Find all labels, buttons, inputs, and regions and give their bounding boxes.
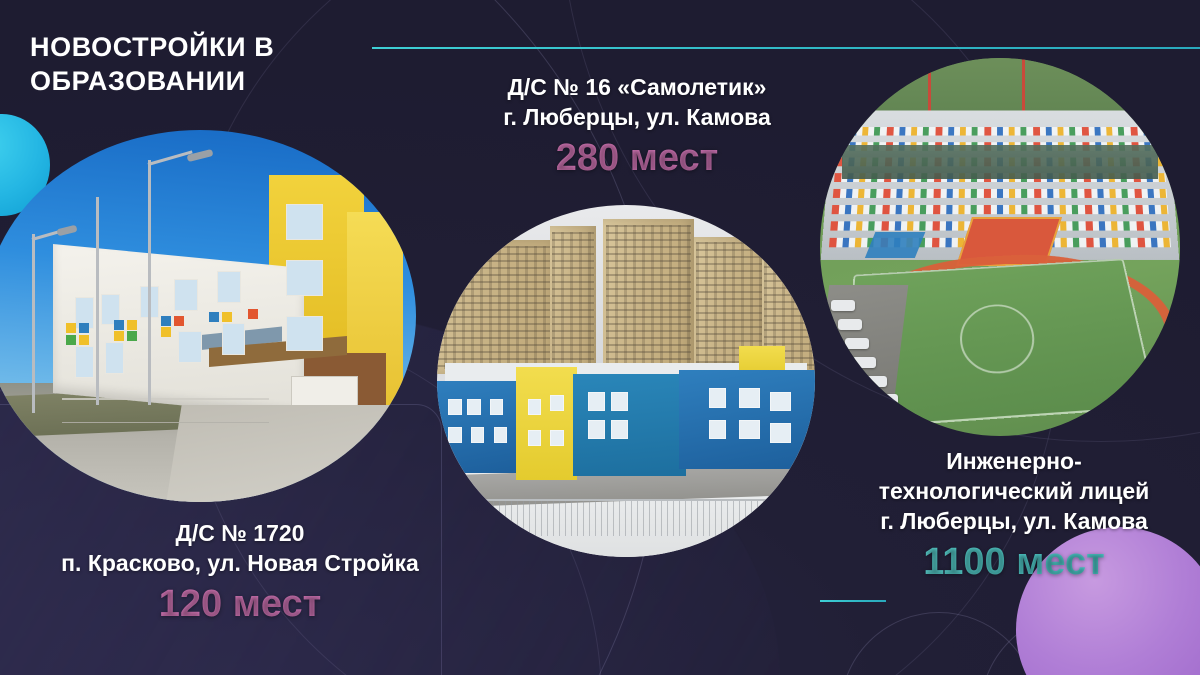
window [611, 420, 628, 440]
parked-car [852, 357, 876, 368]
facility-name: Д/С № 1720 [0, 518, 490, 548]
window [709, 420, 726, 440]
page-title: НОВОСТРОЙКИ В ОБРАЗОВАНИИ [30, 30, 274, 98]
photo-kindergarten-1720 [0, 130, 416, 502]
parked-car [831, 300, 855, 311]
window [528, 430, 541, 446]
window [739, 420, 760, 440]
parked-car [838, 319, 862, 330]
window [588, 420, 605, 440]
facade-accent-tile [79, 323, 89, 333]
caption-kindergarten-1720: Д/С № 1720 п. Красково, ул. Новая Стройк… [0, 518, 490, 628]
facility-name: Инженерно- технологический лицей [828, 446, 1200, 506]
parked-car [874, 394, 898, 405]
facade-accent-tile [222, 312, 232, 322]
apartment-tower [603, 219, 694, 374]
facade-accent-tile [79, 335, 89, 345]
window [222, 323, 246, 355]
apartment-tower [437, 240, 558, 374]
window [105, 342, 124, 374]
photo-engineering-lyceum [820, 58, 1180, 436]
window [217, 271, 241, 303]
window [286, 316, 323, 351]
window [528, 399, 541, 415]
perimeter-fence [475, 499, 770, 536]
caption-kindergarten-16: Д/С № 16 «Самолетик» г. Люберцы, ул. Кам… [402, 72, 872, 182]
window [448, 399, 461, 415]
window [286, 204, 323, 239]
window [75, 346, 94, 378]
street-lamp-pole [148, 160, 151, 406]
window [550, 430, 563, 446]
facade-accent-tile [127, 331, 137, 341]
decor-circle-bottom-a [840, 612, 1038, 675]
window [550, 395, 563, 411]
facility-capacity: 1100 мест [828, 538, 1200, 586]
apartment-tower [550, 226, 595, 374]
facade-accent-tile [127, 320, 137, 330]
facade-accent-tile [114, 331, 124, 341]
lyceum-roof [842, 145, 1159, 179]
facade-accent-tile [161, 316, 171, 326]
facade-accent-tile [248, 309, 258, 319]
caption-engineering-lyceum: Инженерно- технологический лицей г. Любе… [828, 446, 1200, 586]
facade-accent-tile [174, 316, 184, 326]
facility-capacity: 280 мест [402, 134, 872, 182]
street-lamp-pole [96, 197, 99, 405]
window [467, 399, 480, 415]
parked-car [845, 338, 869, 349]
presentation-slide: НОВОСТРОЙКИ В ОБРАЗОВАНИИ Д/С № 16 «Само… [0, 0, 1200, 675]
parked-car [863, 376, 887, 387]
window [770, 392, 791, 412]
window [174, 279, 198, 311]
window [490, 399, 503, 415]
facade-accent-tile [209, 312, 219, 322]
railing [62, 398, 269, 423]
facade-accent-tile [161, 327, 171, 337]
street-lamp-pole [32, 234, 35, 413]
kindergarten-block-yellow [516, 367, 576, 480]
window [448, 427, 461, 443]
window [494, 427, 507, 443]
facade-accent-tile [66, 323, 76, 333]
window [286, 260, 323, 295]
facility-name: Д/С № 16 «Самолетик» [402, 72, 872, 102]
facility-address: г. Люберцы, ул. Камова [402, 102, 872, 132]
teal-rule-bottom [820, 600, 886, 602]
window [709, 388, 726, 408]
facility-address: г. Люберцы, ул. Камова [828, 506, 1200, 536]
window [588, 392, 605, 412]
teal-rule-top [372, 47, 1200, 49]
facade-accent-tile [66, 335, 76, 345]
photo-kindergarten-16 [437, 205, 815, 557]
construction-crane [1022, 58, 1025, 111]
window [611, 392, 628, 412]
facade-accent-tile [114, 320, 124, 330]
window [739, 388, 760, 408]
facility-capacity: 120 мест [0, 580, 490, 628]
facility-address: п. Красково, ул. Новая Стройка [0, 548, 490, 578]
window [471, 427, 484, 443]
window [178, 331, 202, 363]
window [770, 423, 791, 443]
